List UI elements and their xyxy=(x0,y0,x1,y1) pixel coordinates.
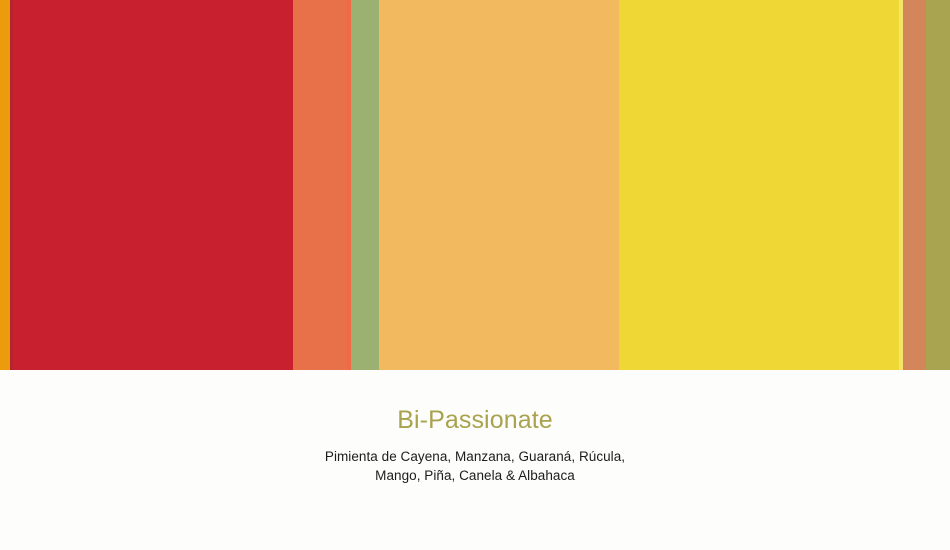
color-stripe-light-amber xyxy=(379,0,619,370)
ingredients-line-1: Pimienta de Cayena, Manzana, Guaraná, Rú… xyxy=(325,447,625,467)
color-stripe-coral-orange xyxy=(293,0,347,370)
product-title: Bi-Passionate xyxy=(397,407,553,435)
product-ingredients: Pimienta de Cayena, Manzana, Guaraná, Rú… xyxy=(325,447,625,486)
product-slide: Bi-Passionate Pimienta de Cayena, Manzan… xyxy=(0,0,950,550)
ingredients-line-2: Mango, Piña, Canela & Albahaca xyxy=(325,466,625,486)
color-stripe-olive-green xyxy=(351,0,379,370)
color-band xyxy=(0,0,950,370)
color-stripe-olive-khaki xyxy=(926,0,950,370)
caption-area: Bi-Passionate Pimienta de Cayena, Manzan… xyxy=(0,370,950,550)
color-stripe-crimson-red xyxy=(13,0,293,370)
color-stripe-salmon-tan xyxy=(903,0,926,370)
color-stripe-amber-edge xyxy=(0,0,10,370)
color-stripe-golden-yellow xyxy=(619,0,899,370)
